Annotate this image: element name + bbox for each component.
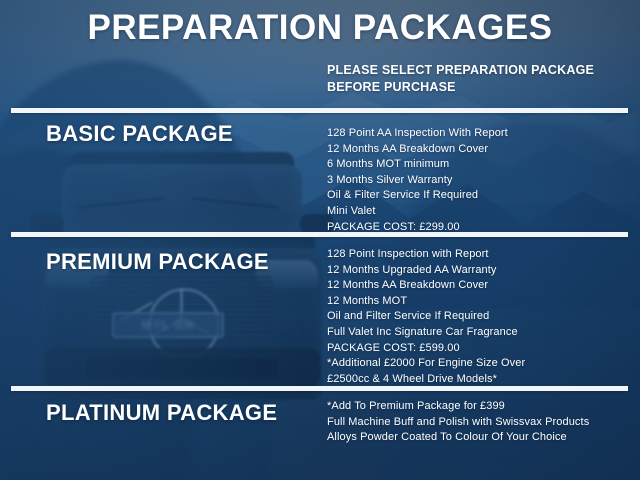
package-feature-item: Mini Valet — [327, 204, 617, 220]
package-title-basic: BASIC PACKAGE — [46, 121, 233, 147]
package-feature-item: 128 Point Inspection with Report — [327, 247, 627, 263]
package-title-platinum: PLATINUM PACKAGE — [46, 400, 277, 426]
package-feature-item: *Additional £2000 For Engine Size Over — [327, 356, 627, 372]
package-feature-item: 3 Months Silver Warranty — [327, 173, 617, 189]
package-features-basic: 128 Point AA Inspection With Report12 Mo… — [327, 126, 617, 235]
package-feature-item: PACKAGE COST: £299.00 — [327, 220, 617, 236]
package-feature-item: 12 Months AA Breakdown Cover — [327, 278, 627, 294]
package-feature-item: Oil & Filter Service If Required — [327, 188, 617, 204]
package-feature-item: 12 Months Upgraded AA Warranty — [327, 263, 627, 279]
preparation-packages-poster: MYL GN PREPARATION PACKAGES PLEASE SELEC… — [0, 0, 640, 480]
package-feature-item: Alloys Powder Coated To Colour Of Your C… — [327, 430, 627, 446]
package-features-platinum: *Add To Premium Package for £399Full Mac… — [327, 399, 627, 446]
package-feature-item: 12 Months MOT — [327, 294, 627, 310]
instruction-line-1: PLEASE SELECT PREPARATION PACKAGE — [327, 62, 627, 79]
poster-content: PREPARATION PACKAGES PLEASE SELECT PREPA… — [0, 0, 640, 480]
package-feature-item: £2500cc & 4 Wheel Drive Models* — [327, 372, 627, 388]
package-title-premium: PREMIUM PACKAGE — [46, 249, 269, 275]
divider-above-basic — [11, 108, 628, 113]
package-feature-item: Full Valet Inc Signature Car Fragrance — [327, 325, 627, 341]
package-feature-item: 12 Months AA Breakdown Cover — [327, 142, 617, 158]
instruction-line-2: BEFORE PURCHASE — [327, 79, 627, 96]
package-feature-item: 6 Months MOT minimum — [327, 157, 617, 173]
package-feature-item: 128 Point AA Inspection With Report — [327, 126, 617, 142]
package-feature-item: Oil and Filter Service If Required — [327, 309, 627, 325]
package-feature-item: Full Machine Buff and Polish with Swissv… — [327, 415, 627, 431]
package-feature-item: PACKAGE COST: £599.00 — [327, 341, 627, 357]
package-features-premium: 128 Point Inspection with Report12 Month… — [327, 247, 627, 387]
instruction-text: PLEASE SELECT PREPARATION PACKAGE BEFORE… — [327, 62, 627, 96]
package-feature-item: *Add To Premium Package for £399 — [327, 399, 627, 415]
page-title: PREPARATION PACKAGES — [0, 8, 640, 48]
